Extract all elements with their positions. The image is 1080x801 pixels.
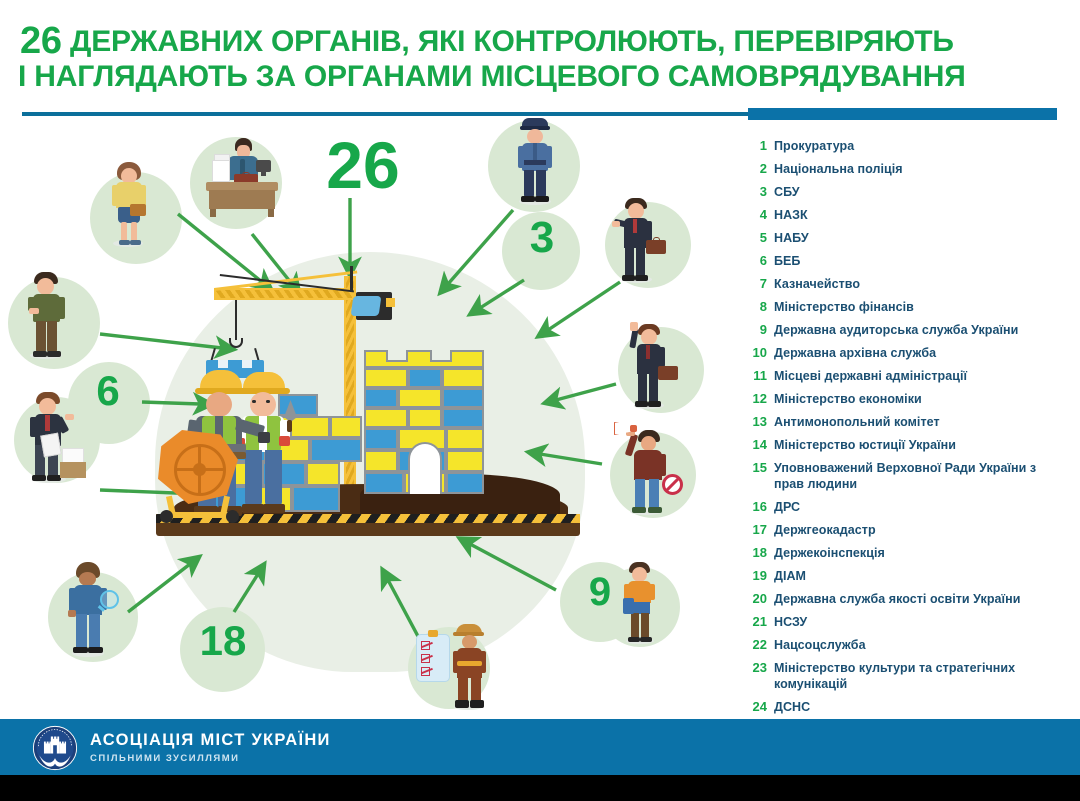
list-item: 3СБУ: [748, 184, 1068, 200]
list-item-number: 15: [748, 460, 774, 476]
police-officer-icon: [510, 116, 560, 208]
man-with-magnifier-icon: [62, 560, 120, 660]
concrete-mixer-icon: [156, 430, 260, 522]
list-item: 9Державна аудиторська служба України: [748, 322, 1068, 338]
footer-slogan: СПІЛЬНИМИ ЗУСИЛЛЯМИ: [90, 752, 331, 766]
list-item: 15Уповноважений Верховної Ради України з…: [748, 460, 1068, 492]
list-item-label: Уповноважений Верховної Ради України з п…: [774, 460, 1050, 492]
list-item-number: 6: [748, 253, 774, 269]
list-item-number: 23: [748, 660, 774, 676]
woman-with-briefcase-icon: [105, 160, 153, 250]
list-item-number: 16: [748, 499, 774, 515]
list-item-number: 9: [748, 322, 774, 338]
list-item: 19ДІАМ: [748, 568, 1068, 584]
list-item: 1Прокуратура: [748, 138, 1068, 154]
list-item-number: 2: [748, 161, 774, 177]
list-item: 14Міністерство юстиції України: [748, 437, 1068, 453]
list-item: 20Державна служба якості освіти України: [748, 591, 1068, 607]
title-line-1: ДЕРЖАВНИХ ОРГАНІВ, ЯКІ КОНТРОЛЮЮТЬ, ПЕРЕ…: [70, 25, 954, 58]
list-item: 22Нацсоцслужба: [748, 637, 1068, 653]
list-item-number: 12: [748, 391, 774, 407]
association-of-ukrainian-cities-logo: [32, 725, 78, 771]
list-item-number: 1: [748, 138, 774, 154]
infographic-poster: 26 ДЕРЖАВНИХ ОРГАНІВ, ЯКІ КОНТРОЛЮЮТЬ, П…: [0, 0, 1080, 801]
list-item-number: 19: [748, 568, 774, 584]
list-item: 11Місцеві державні адміністрації: [748, 368, 1068, 384]
illustration-area: 26 3 6 9 18: [0, 112, 740, 712]
title-line-2: І НАГЛЯДАЮТЬ ЗА ОРГАНАМИ МІСЦЕВОГО САМОВ…: [18, 60, 966, 93]
list-item-number: 21: [748, 614, 774, 630]
list-item: 16ДРС: [748, 499, 1068, 515]
list-item-label: Казначейство: [774, 276, 860, 292]
list-item-label: ДІАМ: [774, 568, 806, 584]
student-with-book-icon: [618, 560, 666, 648]
man-with-documents-icon: [22, 390, 88, 486]
list-item-label: Міністерство фінансів: [774, 299, 914, 315]
list-item-label: Міністерство юстиції України: [774, 437, 956, 453]
list-item-number: 18: [748, 545, 774, 561]
list-item-label: Місцеві державні адміністрації: [774, 368, 967, 384]
list-item: 24ДСНС: [748, 699, 1068, 715]
list-item: 4НАЗК: [748, 207, 1068, 223]
list-item-number: 22: [748, 637, 774, 653]
businessman-pointing-up-icon: [624, 320, 682, 412]
list-item-label: Державна аудиторська служба України: [774, 322, 1018, 338]
header-divider-bar: [748, 108, 1057, 120]
construction-scene-icon: [150, 262, 590, 562]
list-item-label: Держекоінспекція: [774, 545, 885, 561]
list-item: 21НСЗУ: [748, 614, 1068, 630]
list-item-label: НСЗУ: [774, 614, 807, 630]
list-item-number: 7: [748, 276, 774, 292]
list-item-label: Міністерство економіки: [774, 391, 922, 407]
list-item-number: 5: [748, 230, 774, 246]
list-item-number: 24: [748, 699, 774, 715]
list-item: 23Міністерство культури та стратегічних …: [748, 660, 1068, 692]
list-item-number: 10: [748, 345, 774, 361]
list-item-label: Нацсоцслужба: [774, 637, 866, 653]
man-with-megaphone-icon: [612, 422, 686, 518]
list-item-number: 20: [748, 591, 774, 607]
header: 26 ДЕРЖАВНИХ ОРГАНІВ, ЯКІ КОНТРОЛЮЮТЬ, П…: [0, 0, 1080, 112]
list-item-label: Державна служба якості освіти України: [774, 591, 1020, 607]
list-item-label: НАЗК: [774, 207, 808, 223]
list-item-label: Міністерство культури та стратегічних ко…: [774, 660, 1036, 692]
list-item-label: НАБУ: [774, 230, 809, 246]
list-item-number: 11: [748, 368, 774, 384]
list-item-label: Держгеокадастр: [774, 522, 876, 538]
list-item-label: Антимонопольний комітет: [774, 414, 940, 430]
list-item-number: 14: [748, 437, 774, 453]
list-item: 10Державна архівна служба: [748, 345, 1068, 361]
list-item: 7Казначейство: [748, 276, 1068, 292]
footer-organization-name: АСОЦІАЦІЯ МІСТ УКРАЇНИ: [90, 731, 331, 750]
list-item-label: СБУ: [774, 184, 800, 200]
bottom-black-bar: [0, 775, 1080, 801]
list-item-number: 17: [748, 522, 774, 538]
page-title: 26 ДЕРЖАВНИХ ОРГАНІВ, ЯКІ КОНТРОЛЮЮТЬ, П…: [20, 24, 1065, 94]
list-item-label: Національна поліція: [774, 161, 903, 177]
list-item-number: 8: [748, 299, 774, 315]
footer: АСОЦІАЦІЯ МІСТ УКРАЇНИ СПІЛЬНИМИ ЗУСИЛЛЯ…: [0, 719, 1080, 775]
man-hand-on-hip-icon: [22, 270, 72, 362]
list-item: 8Міністерство фінансів: [748, 299, 1068, 315]
list-item: 2Національна поліція: [748, 161, 1068, 177]
list-item: 13Антимонопольний комітет: [748, 414, 1068, 430]
list-item-label: БЕБ: [774, 253, 800, 269]
list-item: 6БЕБ: [748, 253, 1068, 269]
list-item: 18Держекоінспекція: [748, 545, 1068, 561]
list-item-label: Прокуратура: [774, 138, 854, 154]
list-item-number: 4: [748, 207, 774, 223]
list-item-label: ДСНС: [774, 699, 810, 715]
government-bodies-list: 1Прокуратура 2Національна поліція 3СБУ 4…: [748, 138, 1068, 768]
magnifier-icon: [100, 590, 119, 609]
list-item-number: 13: [748, 414, 774, 430]
firefighter-with-checklist-icon: [412, 620, 496, 712]
list-item: 12Міністерство економіки: [748, 391, 1068, 407]
businessman-with-briefcase-icon: [612, 196, 670, 286]
title-number: 26: [20, 20, 62, 62]
list-item-label: ДРС: [774, 499, 800, 515]
brick-tower-icon: [364, 350, 484, 498]
list-item: 5НАБУ: [748, 230, 1068, 246]
list-item: 17Держгеокадастр: [748, 522, 1068, 538]
list-item-label: Державна архівна служба: [774, 345, 936, 361]
list-item-number: 3: [748, 184, 774, 200]
office-worker-at-desk-icon: [198, 130, 284, 218]
footer-text-block: АСОЦІАЦІЯ МІСТ УКРАЇНИ СПІЛЬНИМИ ЗУСИЛЛЯ…: [90, 731, 331, 766]
